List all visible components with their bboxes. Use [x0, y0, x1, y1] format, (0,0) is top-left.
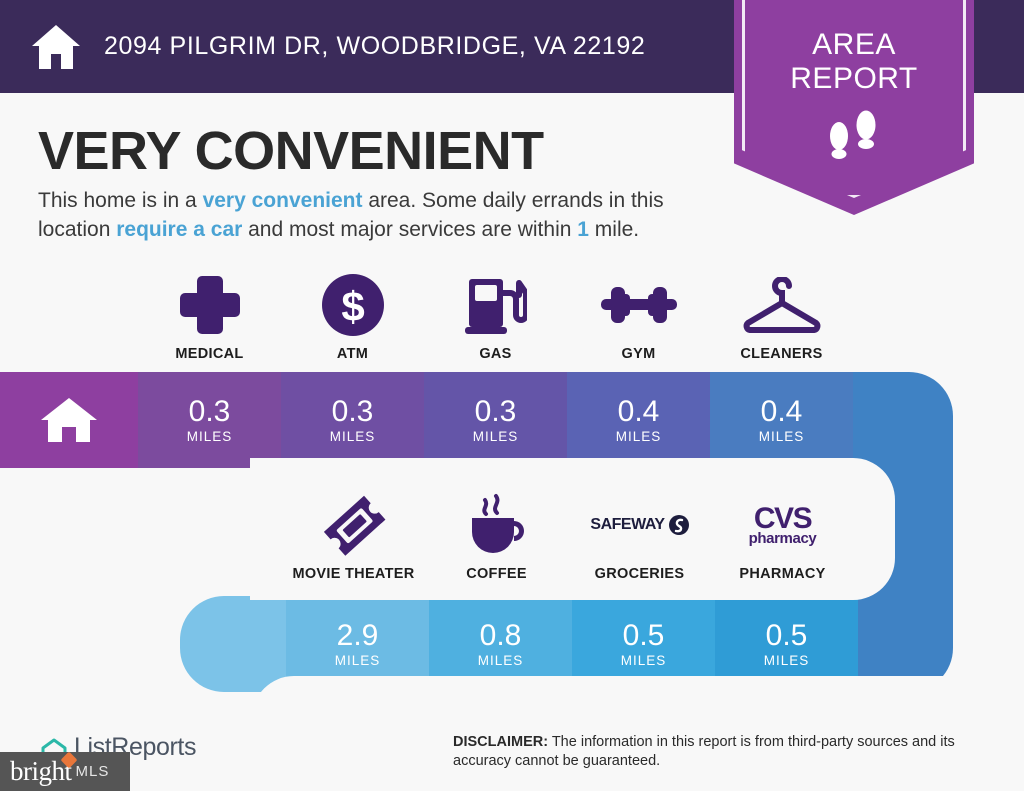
movie-ticket-icon: [321, 492, 387, 558]
distance-medical: 0.3 MILES: [138, 372, 281, 468]
cvs-pharmacy-text: pharmacy: [749, 531, 817, 546]
bright-mls-watermark: bright MLS: [0, 752, 130, 791]
amenity-label: ATM: [337, 346, 368, 362]
gas-pump-icon: [465, 272, 527, 338]
distance-unit: MILES: [616, 429, 662, 444]
amenity-atm: $ ATM: [281, 272, 424, 362]
distance-value: 0.3: [332, 396, 374, 428]
safeway-logo: SAFEWAY: [590, 492, 688, 558]
distance-unit: MILES: [759, 429, 805, 444]
amenity-groceries: SAFEWAY GROCERIES: [568, 492, 711, 582]
home-marker: [0, 372, 138, 468]
distance-value: 0.5: [623, 620, 665, 652]
amenity-movie-theater: MOVIE THEATER: [282, 492, 425, 582]
amenity-label: CLEANERS: [740, 346, 822, 362]
clothes-hanger-icon: [740, 272, 824, 338]
medical-cross-icon: [178, 272, 242, 338]
dollar-circle-icon: $: [322, 272, 384, 338]
property-address: 2094 PILGRIM DR, WOODBRIDGE, VA 22192: [104, 32, 645, 61]
distance-unit: MILES: [621, 653, 667, 668]
distance-gym: 0.4 MILES: [567, 372, 710, 468]
amenity-label: GROCERIES: [595, 566, 685, 582]
amenity-medical: MEDICAL: [138, 272, 281, 362]
amenity-label: COFFEE: [466, 566, 527, 582]
footprints-icon: [823, 110, 885, 162]
distance-value: 0.4: [761, 396, 803, 428]
bright-wordmark: bright: [10, 756, 72, 787]
page-title: VERY CONVENIENT: [38, 120, 544, 182]
distance-value: 0.4: [618, 396, 660, 428]
banner-title-line1: AREA: [812, 28, 896, 61]
amenity-label: GYM: [622, 346, 656, 362]
safeway-wordmark: SAFEWAY: [590, 516, 664, 534]
amenity-icons-row-2: MOVIE THEATER COFFEE SAFEWAY: [282, 492, 854, 582]
distance-value: 2.9: [337, 620, 379, 652]
distance-atm: 0.3 MILES: [281, 372, 424, 468]
distance-unit: MILES: [764, 653, 810, 668]
amenity-gas: GAS: [424, 272, 567, 362]
distance-value: 0.5: [766, 620, 808, 652]
amenity-label: GAS: [479, 346, 511, 362]
desc-highlight-convenient: very convenient: [203, 189, 363, 212]
desc-part4: mile.: [589, 218, 639, 241]
distance-unit: MILES: [330, 429, 376, 444]
desc-highlight-car: require a car: [116, 218, 242, 241]
amenity-icons-row-1: MEDICAL $ ATM GAS: [138, 272, 853, 362]
banner-title: AREA REPORT: [790, 28, 917, 96]
home-icon: [40, 396, 98, 444]
area-report-banner: AREA REPORT: [734, 0, 974, 215]
distance-unit: MILES: [335, 653, 381, 668]
distance-unit: MILES: [478, 653, 524, 668]
distance-value: 0.8: [480, 620, 522, 652]
disclaimer-label: DISCLAIMER:: [453, 734, 548, 750]
amenity-label: MEDICAL: [175, 346, 243, 362]
coffee-cup-icon: [464, 492, 530, 558]
distance-value: 0.3: [189, 396, 231, 428]
amenity-pharmacy: CVS pharmacy PHARMACY: [711, 492, 854, 582]
area-report-page: 2094 PILGRIM DR, WOODBRIDGE, VA 22192 AR…: [0, 0, 1024, 791]
safeway-s-mark: [669, 515, 689, 535]
amenity-gym: GYM: [567, 272, 710, 362]
ribbon-left-turn: [180, 596, 286, 692]
desc-part1: This home is in a: [38, 189, 203, 212]
banner-title-line2: REPORT: [790, 62, 917, 95]
mls-text: MLS: [76, 763, 110, 780]
amenity-coffee: COFFEE: [425, 492, 568, 582]
distance-gas: 0.3 MILES: [424, 372, 567, 468]
distance-cleaners: 0.4 MILES: [710, 372, 853, 468]
amenity-label: PHARMACY: [739, 566, 825, 582]
disclaimer: DISCLAIMER: The information in this repo…: [453, 733, 993, 771]
amenity-label: MOVIE THEATER: [292, 566, 414, 582]
distance-unit: MILES: [187, 429, 233, 444]
desc-part3: and most major services are within: [242, 218, 577, 241]
dumbbell-icon: [601, 272, 677, 338]
home-icon: [30, 21, 82, 73]
svg-text:$: $: [341, 283, 364, 330]
desc-highlight-miles: 1: [577, 218, 589, 241]
distance-value: 0.3: [475, 396, 517, 428]
distance-unit: MILES: [473, 429, 519, 444]
amenity-cleaners: CLEANERS: [710, 272, 853, 362]
cvs-pharmacy-logo: CVS pharmacy: [749, 492, 817, 558]
description-text: This home is in a very convenient area. …: [38, 186, 728, 244]
